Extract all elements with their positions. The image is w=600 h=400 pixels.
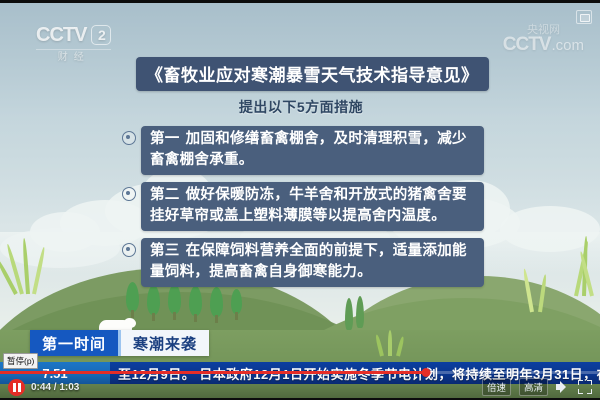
fullscreen-icon[interactable]	[578, 380, 592, 394]
player-right-controls: 倍速 高清	[482, 378, 592, 396]
program-name: 第一时间	[30, 330, 118, 356]
cctv-com-watermark: 央视网 CCTV .com	[503, 34, 584, 56]
list-item-lead: 第一	[150, 131, 180, 147]
player-controls: 0:44 / 1:03 倍速 高清	[0, 374, 600, 400]
volume-icon[interactable]	[556, 380, 570, 394]
target-bullet-icon	[122, 187, 136, 201]
list-item: 第一加固和修缮畜禽棚舍，及时清理积雪，减少畜禽棚舍承重。	[122, 126, 484, 175]
grass-tuft	[370, 330, 430, 356]
measure-list: 第一加固和修缮畜禽棚舍，及时清理积雪，减少畜禽棚舍承重。 第二做好保暖防冻，牛羊…	[122, 126, 484, 294]
channel-number: 2	[91, 25, 111, 45]
grass-tuft	[520, 266, 560, 312]
screenshot-root: CCTV 2 财经 央视网 CCTV .com 《畜牧业应对寒潮暴雪天气技术指导…	[0, 0, 600, 400]
channel-logo-text: CCTV	[36, 25, 86, 45]
target-bullet-icon	[122, 131, 136, 145]
page-subtitle: 提出以下5方面措施	[136, 97, 466, 117]
playback-speed-button[interactable]: 倍速	[482, 378, 511, 396]
channel-sub-label: 财经	[36, 49, 111, 63]
list-item-body: 在保障饲料营养全面的前提下，适量添加能量饲料，提高畜禽自身御寒能力。	[150, 243, 467, 280]
letterbox-top	[0, 0, 600, 3]
lower-third-banner: 第一时间 寒潮来袭	[30, 330, 209, 356]
list-item-lead: 第二	[150, 187, 180, 203]
pause-tooltip: 暂停(p)	[3, 353, 38, 369]
channel-logo: CCTV 2 财经	[36, 25, 111, 63]
watermark-brand: CCTV	[503, 34, 551, 56]
poplar-tree-icon	[356, 296, 364, 328]
list-item-body: 做好保暖防冻，牛羊舍和开放式的猪禽舍要挂好草帘或盖上塑料薄膜等以提高舍内温度。	[150, 187, 467, 224]
target-bullet-icon	[122, 243, 136, 257]
pause-icon[interactable]	[8, 379, 25, 396]
grass-tuft	[560, 236, 600, 296]
list-item: 第二做好保暖防冻，牛羊舍和开放式的猪禽舍要挂好草帘或盖上塑料薄膜等以提高舍内温度…	[122, 182, 484, 231]
grass-tuft	[6, 238, 46, 294]
watermark-cn-label: 央视网	[527, 21, 560, 37]
list-item-text: 第一加固和修缮畜禽棚舍，及时清理积雪，减少畜禽棚舍承重。	[141, 126, 484, 175]
list-item: 第三在保障饲料营养全面的前提下，适量添加能量饲料，提高畜禽自身御寒能力。	[122, 238, 484, 287]
title-block: 《畜牧业应对寒潮暴雪天气技术指导意见》 提出以下5方面措施	[136, 57, 466, 117]
quality-button[interactable]: 高清	[519, 378, 548, 396]
list-item-text: 第二做好保暖防冻，牛羊舍和开放式的猪禽舍要挂好草帘或盖上塑料薄膜等以提高舍内温度…	[141, 182, 484, 231]
watermark-suffix: .com	[551, 37, 584, 54]
time-display: 0:44 / 1:03	[31, 382, 79, 393]
poplar-tree-icon	[345, 298, 353, 330]
list-item-body: 加固和修缮畜禽棚舍，及时清理积雪，减少畜禽棚舍承重。	[150, 131, 467, 168]
list-item-lead: 第三	[150, 243, 180, 259]
list-item-text: 第三在保障饲料营养全面的前提下，适量添加能量饲料，提高畜禽自身御寒能力。	[141, 238, 484, 287]
video-player-surface[interactable]: CCTV 2 财经 央视网 CCTV .com 《畜牧业应对寒潮暴雪天气技术指导…	[0, 0, 600, 400]
page-title: 《畜牧业应对寒潮暴雪天气技术指导意见》	[136, 57, 489, 91]
headline-label: 寒潮来袭	[118, 330, 209, 356]
picture-in-picture-icon[interactable]	[576, 10, 592, 24]
